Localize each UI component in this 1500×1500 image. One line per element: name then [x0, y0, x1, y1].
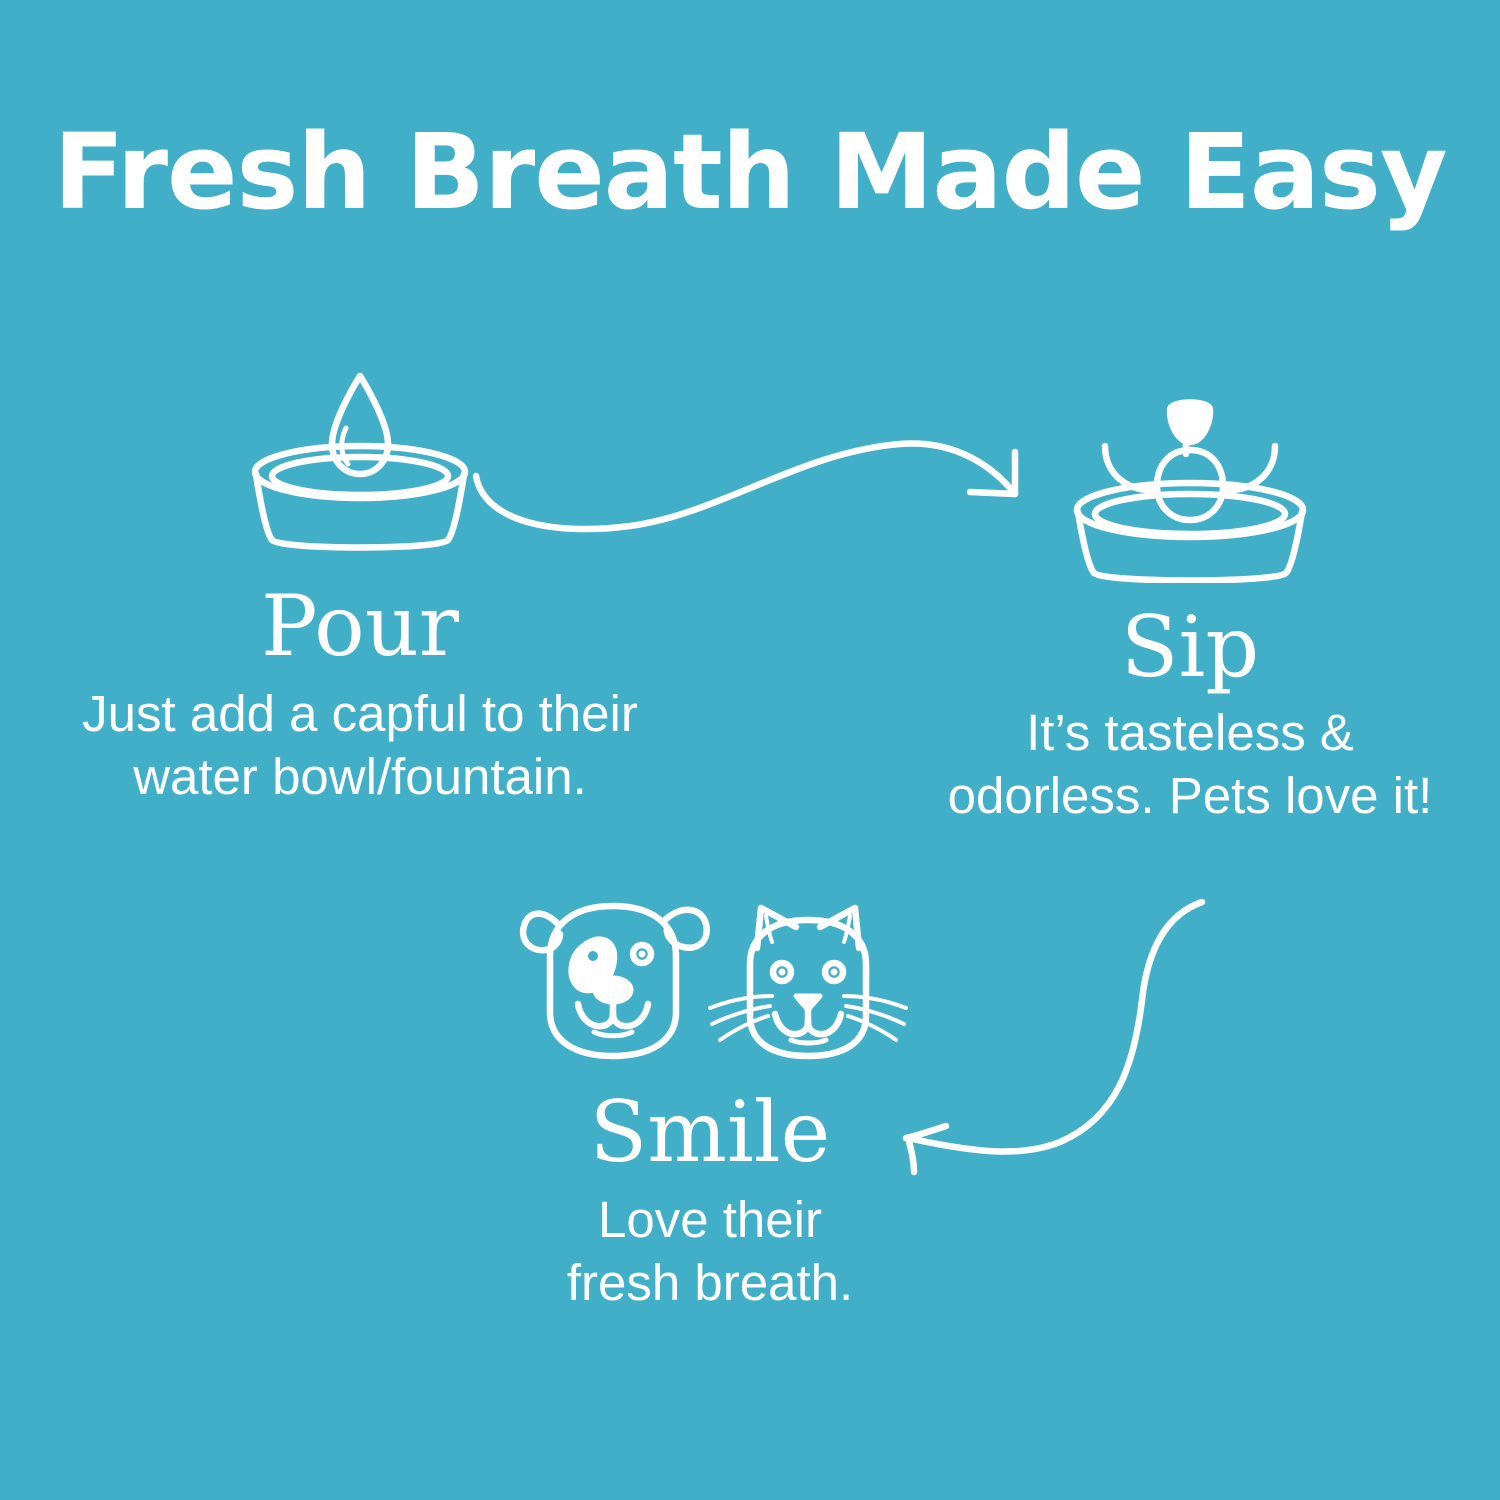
step-smile-heading: Smile — [400, 1090, 1020, 1174]
step-sip-heading: Sip — [890, 605, 1490, 689]
infographic-canvas: Fresh Breath Made Easy Pour Just add a c… — [0, 0, 1500, 1500]
step-smile-body: Love their fresh breath. — [400, 1188, 1020, 1314]
step-pour: Pour Just add a capful to their water bo… — [10, 368, 710, 808]
step-pour-heading: Pour — [10, 584, 710, 668]
step-sip-body: It’s tasteless & odorless. Pets love it! — [890, 701, 1490, 827]
step-pour-body: Just add a capful to their water bowl/fo… — [10, 682, 710, 808]
water-droplet-over-pet-bowl-icon — [220, 368, 500, 558]
step-smile: Smile Love their fresh breath. — [400, 890, 1020, 1314]
step-sip: Sip It’s tasteless & odorless. Pets love… — [890, 398, 1490, 827]
dog-drinking-from-bowl-icon — [1045, 398, 1335, 583]
dog-and-cat-faces-icon — [510, 890, 910, 1070]
page-title: Fresh Breath Made Easy — [0, 118, 1500, 227]
